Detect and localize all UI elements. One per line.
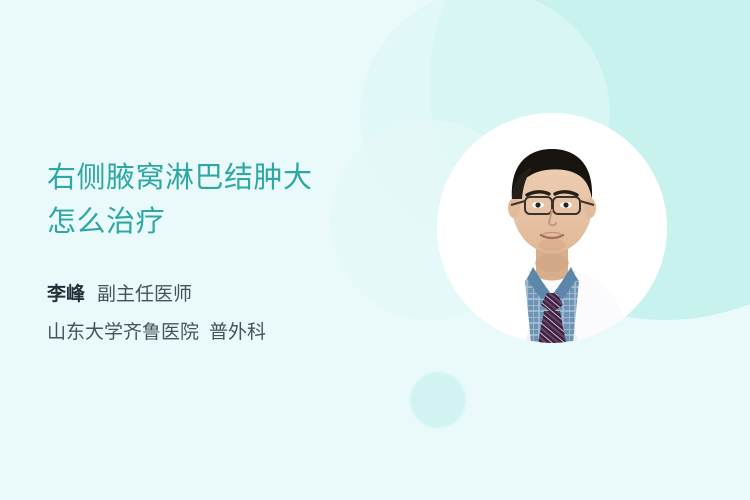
doctor-hospital: 山东大学齐鲁医院 — [47, 322, 199, 343]
doctor-identity-line: 李峰副主任医师 — [47, 280, 427, 310]
doctor-name: 李峰 — [47, 284, 85, 305]
decorative-circle-small-bottom — [410, 372, 466, 428]
doctor-portrait-avatar — [437, 113, 667, 343]
doctor-department: 普外科 — [209, 322, 266, 343]
doctor-professional-title: 副主任医师 — [97, 284, 192, 305]
doctor-affiliation-line: 山东大学齐鲁医院普外科 — [47, 318, 427, 348]
doctor-answer-card: 右侧腋窝淋巴结肿大 怎么治疗 李峰副主任医师 山东大学齐鲁医院普外科 — [0, 0, 750, 500]
text-block: 右侧腋窝淋巴结肿大 怎么治疗 李峰副主任医师 山东大学齐鲁医院普外科 — [47, 156, 427, 348]
question-title: 右侧腋窝淋巴结肿大 怎么治疗 — [47, 156, 427, 244]
